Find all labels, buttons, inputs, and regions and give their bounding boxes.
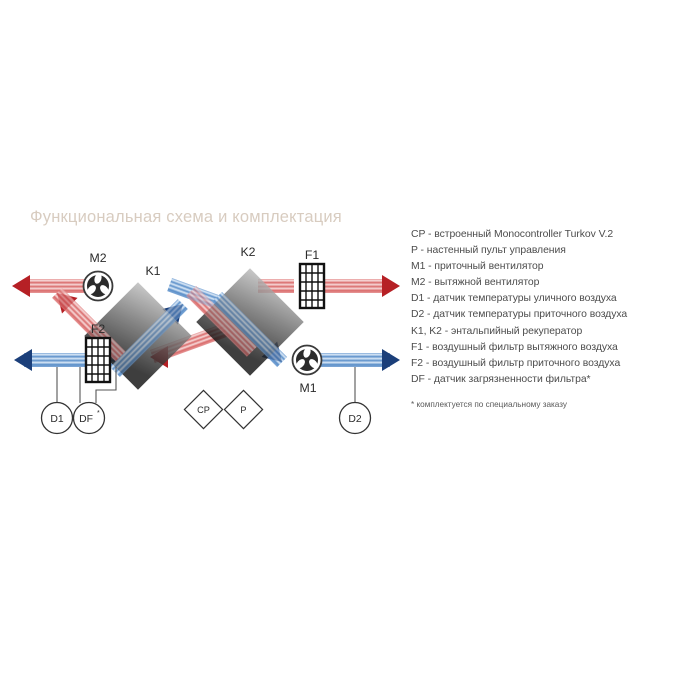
functional-scheme-diagram: D1 DF * D2 [0, 240, 410, 440]
legend-item-m2: M2 - вытяжной вентилятор [411, 275, 696, 291]
controller-label-cp: CP [197, 405, 210, 415]
exhaust-duct-outlet [12, 275, 90, 297]
component-label-m1: M1 [299, 381, 316, 395]
diagram-page: Функциональная схема и комплектация [0, 0, 700, 700]
filter-grid-icon-f2[interactable] [86, 338, 110, 382]
sensor-circle-icon-df[interactable]: DF * [74, 403, 105, 434]
controller-diamond-icon-p[interactable]: P [224, 390, 262, 428]
fan-propeller-icon-m1[interactable] [293, 346, 322, 375]
legend-item-df: DF - датчик загрязненности фильтра* [411, 372, 696, 388]
legend-item-f2: F2 - воздушный фильтр приточного воздуха [411, 356, 696, 372]
blue-supply-arrow-icon [382, 349, 400, 371]
sensor-label-df: DF [79, 414, 93, 425]
red-exhaust-arrow-icon [12, 275, 30, 297]
component-label-k2: K2 [240, 245, 255, 259]
sensor-circle-icon-d2[interactable]: D2 [340, 403, 371, 434]
page-title: Функциональная схема и комплектация [30, 208, 342, 227]
controller-diamond-icon-cp[interactable]: CP [184, 390, 222, 428]
legend-item-cp: CP - встроенный Monocontroller Turkov V.… [411, 227, 696, 243]
component-label-k1: K1 [145, 264, 160, 278]
component-label-f2: F2 [91, 322, 106, 336]
legend-item-p: P - настенный пульт управления [411, 243, 696, 259]
supply-duct-inlet [14, 349, 90, 371]
filter-grid-icon-f1[interactable] [300, 264, 324, 308]
legend-footnote: * комплектуется по специальному заказу [411, 400, 696, 409]
controller-label-p: P [240, 405, 246, 415]
legend: CP - встроенный Monocontroller Turkov V.… [411, 227, 696, 409]
red-exhaust-arrow-icon [382, 275, 400, 297]
sensor-label-d1: D1 [50, 414, 64, 425]
component-label-m2: M2 [89, 251, 106, 265]
legend-item-k1-k2: K1, K2 - энтальпийный рекуператор [411, 324, 696, 340]
legend-item-f1: F1 - воздушный фильтр вытяжного воздуха [411, 340, 696, 356]
fan-propeller-icon-m2[interactable] [84, 272, 113, 301]
component-label-f1: F1 [305, 248, 320, 262]
sensor-circle-icon-d1[interactable]: D1 [42, 403, 73, 434]
legend-item-d1: D1 - датчик температуры уличного воздуха [411, 291, 696, 307]
blue-supply-arrow-icon [14, 349, 32, 371]
sensor-label-df-asterisk: * [97, 410, 100, 417]
legend-item-m1: M1 - приточный вентилятор [411, 259, 696, 275]
legend-item-d2: D2 - датчик температуры приточного возду… [411, 307, 696, 323]
sensor-label-d2: D2 [348, 414, 362, 425]
